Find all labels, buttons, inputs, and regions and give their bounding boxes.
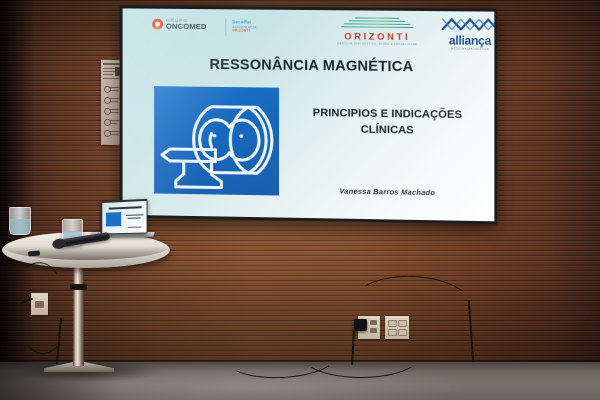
laptop-slide-subtitle-line bbox=[125, 214, 143, 216]
poster-text-line bbox=[103, 71, 116, 72]
presentation-slide: GRUPO ONCOMED Decolfar ASSISTENCIA ORIZO… bbox=[123, 8, 495, 221]
table-pedestal bbox=[73, 258, 84, 366]
allianca-tagline: MEDICINA DIAGNÓSTICA bbox=[438, 47, 495, 51]
water-glass-left[interactable] bbox=[9, 207, 31, 235]
laptop-slide-author-line bbox=[127, 226, 141, 228]
poster-text-line bbox=[110, 112, 120, 113]
decolor-line3: ORIZONTI bbox=[232, 29, 256, 33]
orizonti-wordmark: ORIZONTI bbox=[331, 30, 423, 42]
slide-logo-row: GRUPO ONCOMED Decolfar ASSISTENCIA ORIZO… bbox=[123, 14, 495, 48]
poster-text-line bbox=[103, 68, 115, 69]
poster-text-line bbox=[110, 101, 118, 102]
mri-scanner-linework bbox=[154, 86, 279, 195]
presentation-room-photo: GRUPO ONCOMED Decolfar ASSISTENCIA ORIZO… bbox=[0, 0, 600, 400]
logo-divider bbox=[225, 18, 226, 36]
allianca-zigzag-icon bbox=[441, 17, 495, 31]
water-level bbox=[10, 219, 30, 234]
oncomed-circle-icon bbox=[152, 19, 163, 30]
allianca-wordmark: alliança bbox=[438, 34, 495, 47]
poster-text-line bbox=[103, 74, 113, 75]
logo-orizonti: ORIZONTI MEDICINA DIAGNÓSTICA, SAÚDE E L… bbox=[331, 17, 423, 46]
projection-screen: GRUPO ONCOMED Decolfar ASSISTENCIA ORIZO… bbox=[120, 5, 498, 224]
slide-subtitle-line2: CLÍNICAS bbox=[361, 123, 414, 136]
poster-text-line bbox=[110, 90, 119, 91]
slide-author: Vanessa Barros Machado bbox=[307, 186, 468, 198]
logo-decolor: Decolfar ASSISTENCIA ORIZONTI bbox=[232, 19, 256, 32]
slide-title: RESSONÂNCIA MAGNÉTICA bbox=[182, 57, 442, 76]
poster-text-line bbox=[110, 134, 119, 135]
table-cable-tie bbox=[70, 284, 87, 290]
logo-grupo-oncomed: GRUPO ONCOMED bbox=[152, 19, 206, 31]
orizonti-lines-icon bbox=[341, 17, 413, 30]
poster-text-line bbox=[103, 78, 121, 79]
mri-scanner-icon bbox=[154, 86, 279, 195]
orizonti-tagline: MEDICINA DIAGNÓSTICA, SAÚDE E LONGEVIDAD… bbox=[331, 42, 423, 46]
poster-text-line bbox=[110, 123, 117, 124]
laptop-slide-subtitle-line bbox=[127, 217, 140, 219]
laptop-screen bbox=[102, 200, 146, 233]
slide-subtitle: PRINCIPIOS E INDICAÇÕES CLÍNICAS bbox=[289, 106, 486, 140]
slide-subtitle-line1: PRINCIPIOS E INDICAÇÕES bbox=[313, 107, 462, 121]
laptop-slide-image-block bbox=[106, 212, 121, 226]
oncomed-bottom-word: ONCOMED bbox=[166, 23, 207, 31]
logo-allianca: alliança MEDICINA DIAGNÓSTICA bbox=[438, 17, 495, 51]
laptop-slide-title-line bbox=[108, 206, 141, 209]
laptop[interactable] bbox=[100, 199, 147, 235]
